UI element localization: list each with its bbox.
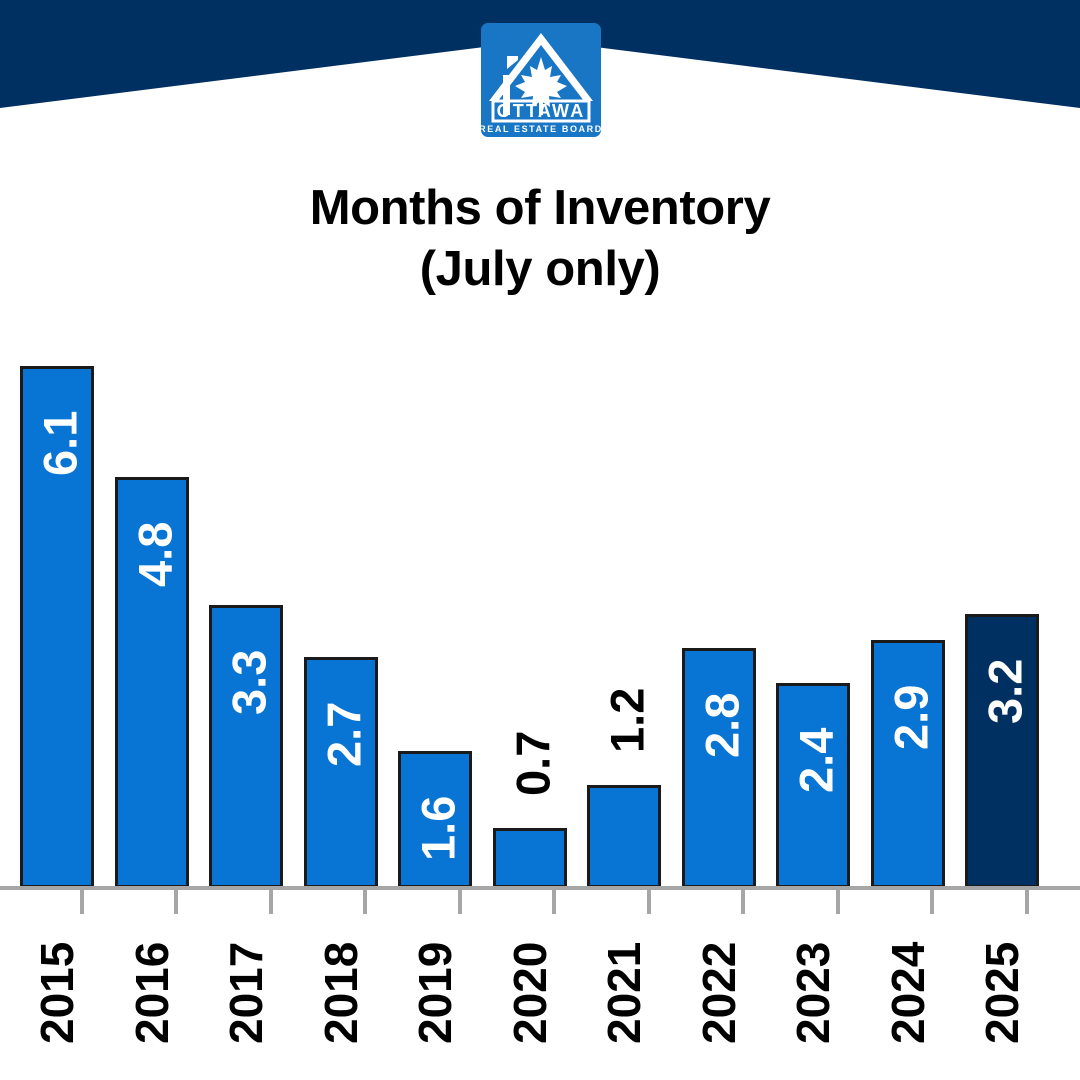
bar-slot: 2.4 — [776, 340, 871, 888]
bar-slot: 2.9 — [871, 340, 966, 888]
infographic-page: OTTAWA REAL ESTATE BOARD Months of Inven… — [0, 0, 1080, 1080]
bar-series: 6.14.83.32.71.60.71.22.82.42.93.2 — [20, 340, 1060, 888]
x-label-slot: 2022 — [682, 918, 777, 1068]
x-axis-tick — [836, 890, 840, 914]
x-axis-tick — [80, 890, 84, 914]
bar-value-label: 2.4 — [779, 700, 853, 820]
bar-slot: 1.6 — [398, 340, 493, 888]
bar-2019[interactable]: 1.6 — [398, 751, 472, 888]
x-axis-tick — [1025, 890, 1029, 914]
bar-2015[interactable]: 6.1 — [20, 366, 94, 888]
bar-2016[interactable]: 4.8 — [115, 477, 189, 888]
x-label-slot: 2021 — [587, 918, 682, 1068]
x-label-slot: 2018 — [304, 918, 399, 1068]
x-axis-tick — [363, 890, 367, 914]
x-axis-label-2025: 2025 — [965, 918, 1039, 1068]
x-label-slot: 2025 — [965, 918, 1060, 1068]
bar-value-label: 6.1 — [23, 383, 97, 503]
bar-2022[interactable]: 2.8 — [682, 648, 756, 888]
bar-slot: 3.3 — [209, 340, 304, 888]
x-axis-label-2015: 2015 — [20, 918, 94, 1068]
x-axis-tick — [269, 890, 273, 914]
bar-value-label: 1.6 — [401, 768, 475, 888]
x-axis-label-2023: 2023 — [776, 918, 850, 1068]
x-label-slot: 2019 — [398, 918, 493, 1068]
bar-slot: 0.7 — [493, 340, 588, 888]
x-axis-tick — [930, 890, 934, 914]
bar-slot: 2.8 — [682, 340, 777, 888]
bar-value-label: 3.3 — [212, 622, 286, 742]
x-axis-label-2017: 2017 — [209, 918, 283, 1068]
bar-2023[interactable]: 2.4 — [776, 683, 850, 889]
bar-2025[interactable]: 3.2 — [965, 614, 1039, 888]
x-axis-ticks — [20, 890, 1060, 914]
x-axis-label-2021: 2021 — [587, 918, 661, 1068]
x-axis-label-2019: 2019 — [398, 918, 472, 1068]
bar-value-label: 1.2 — [590, 660, 664, 780]
x-axis-label-2016: 2016 — [115, 918, 189, 1068]
bar-slot: 1.2 — [587, 340, 682, 888]
x-label-slot: 2020 — [493, 918, 588, 1068]
bar-chart: 6.14.83.32.71.60.71.22.82.42.93.2 201520… — [0, 0, 1080, 1080]
x-axis-tick — [174, 890, 178, 914]
bar-slot: 3.2 — [965, 340, 1060, 888]
x-axis-labels: 2015201620172018201920202021202220232024… — [20, 918, 1060, 1068]
x-label-slot: 2017 — [209, 918, 304, 1068]
bar-slot: 2.7 — [304, 340, 399, 888]
x-axis-label-2024: 2024 — [871, 918, 945, 1068]
bar-2020[interactable]: 0.7 — [493, 828, 567, 888]
bar-value-label: 4.8 — [118, 494, 192, 614]
x-axis-tick — [552, 890, 556, 914]
x-label-slot: 2015 — [20, 918, 115, 1068]
x-label-slot: 2023 — [776, 918, 871, 1068]
x-axis-tick — [458, 890, 462, 914]
bar-value-label: 2.7 — [307, 674, 381, 794]
x-axis-label-2020: 2020 — [493, 918, 567, 1068]
x-axis-tick — [741, 890, 745, 914]
x-label-slot: 2016 — [115, 918, 210, 1068]
bar-2018[interactable]: 2.7 — [304, 657, 378, 888]
bar-value-label: 2.9 — [874, 657, 948, 777]
bar-value-label: 3.2 — [968, 631, 1042, 751]
bar-2024[interactable]: 2.9 — [871, 640, 945, 888]
bar-value-label: 0.7 — [496, 703, 570, 823]
plot-area: 6.14.83.32.71.60.71.22.82.42.93.2 — [20, 340, 1060, 888]
bar-value-label: 2.8 — [685, 665, 759, 785]
x-axis-label-2022: 2022 — [682, 918, 756, 1068]
x-axis-label-2018: 2018 — [304, 918, 378, 1068]
bar-2021[interactable]: 1.2 — [587, 785, 661, 888]
x-axis-tick — [647, 890, 651, 914]
bar-slot: 6.1 — [20, 340, 115, 888]
bar-2017[interactable]: 3.3 — [209, 605, 283, 888]
bar-slot: 4.8 — [115, 340, 210, 888]
x-label-slot: 2024 — [871, 918, 966, 1068]
